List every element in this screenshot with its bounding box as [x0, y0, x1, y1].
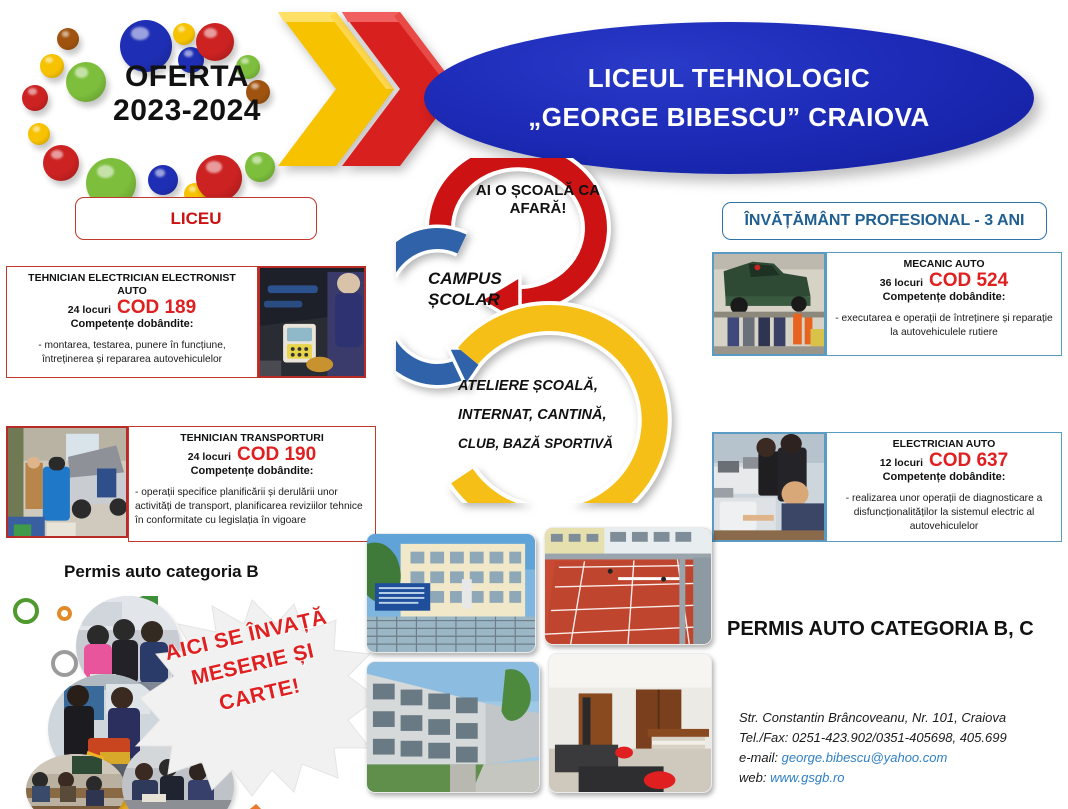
offer-card-text: TEHNICIAN ELECTRICIAN ELECTRONIST AUTO 2…: [6, 266, 258, 378]
campus-label-line1: CAMPUS: [428, 268, 548, 289]
decorative-sphere: [22, 85, 48, 111]
decorative-sphere: [40, 54, 64, 78]
decorative-sphere: [196, 155, 242, 201]
sports-field-photo: [544, 527, 712, 645]
offer-card-text: MECANIC AUTO 36 locuri COD 524 Competenț…: [826, 252, 1062, 356]
professional-badge-label: ÎNVĂȚĂMÂNT PROFESIONAL - 3 ANI: [744, 212, 1024, 230]
permis-small-label: Permis auto categoria B: [64, 562, 259, 582]
school-building-photo: [366, 533, 536, 653]
offer-card-text: ELECTRICIAN AUTO 12 locuri COD 637 Compe…: [826, 432, 1062, 542]
offer-card-tehnician-transporturi: TEHNICIAN TRANSPORTURI 24 locuri COD 190…: [6, 426, 376, 542]
liceu-badge: LICEU: [75, 197, 317, 240]
decorative-sphere: [196, 23, 234, 61]
facilities-line1: ATELIERE ȘCOALĂ,: [458, 372, 663, 401]
campus-label: CAMPUS ȘCOLAR: [428, 268, 548, 311]
offer-seats: 24 locuri: [188, 451, 231, 463]
facilities-line2: INTERNAT, CANTINĂ,: [458, 401, 663, 430]
offer-seats: 36 locuri: [880, 277, 923, 289]
offer-heading: OFERTA 2023-2024: [72, 60, 302, 127]
poster-canvas: LICEUL TEHNOLOGIC „GEORGE BIBESCU” CRAIO…: [0, 0, 1068, 809]
offer-competences-label: Competențe dobândite:: [833, 291, 1055, 303]
campus-label-line2: ȘCOLAR: [428, 289, 548, 310]
permis-big-label: PERMIS AUTO CATEGORIA B, C: [727, 618, 1034, 641]
decorative-sphere: [43, 145, 79, 181]
workshop-students-photo: [6, 426, 128, 538]
dorm-room-photo: [548, 653, 712, 793]
liceu-badge-label: LICEU: [171, 209, 222, 229]
offer-heading-line1: OFERTA: [72, 60, 302, 94]
campus-photo-collage: [362, 527, 712, 802]
decorative-ring: [13, 598, 39, 624]
facilities-label: ATELIERE ȘCOALĂ, INTERNAT, CANTINĂ, CLUB…: [458, 372, 663, 457]
offer-card-tehnician-electrician: TEHNICIAN ELECTRICIAN ELECTRONIST AUTO 2…: [6, 266, 366, 378]
contact-address: Str. Constantin Brâncoveanu, Nr. 101, Cr…: [739, 708, 1007, 728]
offer-seats: 12 locuri: [880, 457, 923, 469]
decorative-sphere: [245, 152, 275, 182]
decorative-sphere: [57, 28, 79, 50]
offer-competences-label: Competențe dobândite:: [135, 465, 369, 477]
offer-description: - operații specifice planificării și der…: [135, 486, 369, 527]
school-title-oval: LICEUL TEHNOLOGIC „GEORGE BIBESCU” CRAIO…: [424, 22, 1034, 174]
facilities-line3: CLUB, BAZĂ SPORTIVĂ: [458, 430, 663, 457]
offer-code: COD 190: [237, 445, 316, 464]
car-on-lift-photo: [712, 252, 826, 356]
offer-code: COD 524: [929, 271, 1008, 290]
contact-web-label: web:: [739, 770, 766, 785]
contact-web-link[interactable]: www.gsgb.ro: [770, 770, 844, 785]
offer-card-electrician-auto: ELECTRICIAN AUTO 12 locuri COD 637 Compe…: [712, 432, 1062, 542]
contact-email-row: e-mail: george.bibescu@yahoo.com: [739, 748, 1007, 768]
offer-title: TEHNICIAN ELECTRICIAN ELECTRONIST AUTO: [13, 272, 251, 298]
school-name-line1: LICEUL TEHNOLOGIC: [588, 63, 870, 94]
offer-competences-label: Competențe dobândite:: [833, 471, 1055, 483]
offer-card-mecanic-auto: MECANIC AUTO 36 locuri COD 524 Competenț…: [712, 252, 1062, 356]
contact-web-row: web: www.gsgb.ro: [739, 768, 1007, 788]
offer-code: COD 189: [117, 298, 196, 317]
electric-lab-photo: [712, 432, 826, 542]
contact-email-label: e-mail:: [739, 750, 778, 765]
offer-description: - montarea, testarea, punere în funcțiun…: [13, 339, 251, 367]
offer-seats: 24 locuri: [68, 304, 111, 316]
offer-heading-line2: 2023-2024: [72, 94, 302, 128]
offer-description: - realizarea unor operații de diagnostic…: [833, 492, 1055, 533]
auto-diagnostics-photo: [258, 266, 366, 378]
offer-code: COD 637: [929, 451, 1008, 470]
decorative-sphere: [173, 23, 195, 45]
contact-phone: Tel./Fax: 0251-423.902/0351-405698, 405.…: [739, 728, 1007, 748]
offer-competences-label: Competențe dobândite:: [13, 318, 251, 330]
contact-block: Str. Constantin Brâncoveanu, Nr. 101, Cr…: [739, 708, 1007, 789]
dorm-building-photo: [366, 661, 540, 793]
professional-badge: ÎNVĂȚĂMÂNT PROFESIONAL - 3 ANI: [722, 202, 1047, 240]
contact-email-link[interactable]: george.bibescu@yahoo.com: [782, 750, 948, 765]
decorative-sphere: [28, 123, 50, 145]
offer-card-text: TEHNICIAN TRANSPORTURI 24 locuri COD 190…: [128, 426, 376, 542]
school-name-line2: „GEORGE BIBESCU” CRAIOVA: [528, 102, 930, 133]
decorative-sphere: [148, 165, 178, 195]
slogan-text: AI O ȘCOALĂ CA AFARĂ!: [458, 182, 618, 218]
offer-description: - executarea e operații de întreținere ș…: [833, 312, 1055, 340]
